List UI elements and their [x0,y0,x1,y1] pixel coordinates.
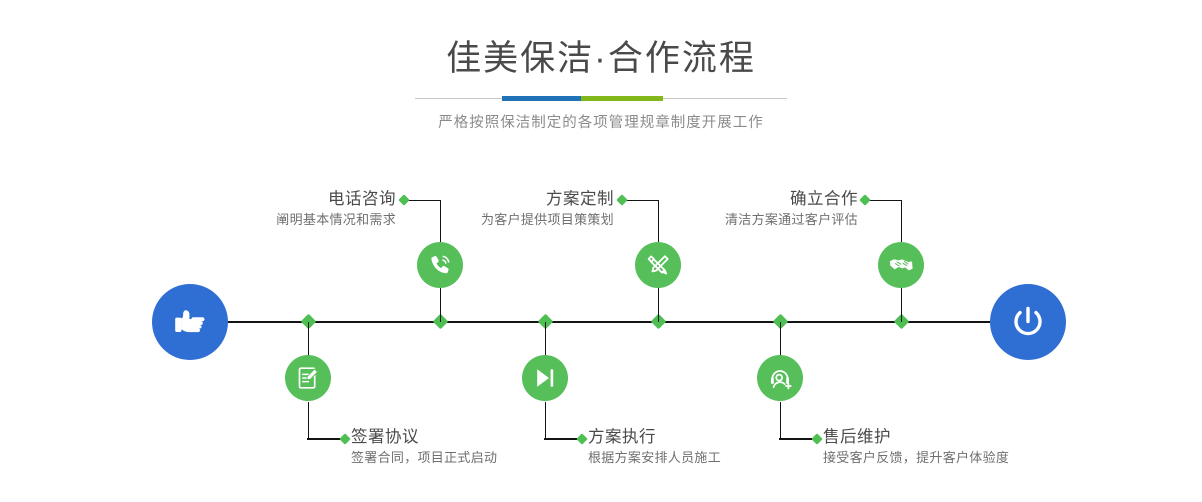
header: 佳美保洁·合作流程 严格按照保洁制定的各项管理规章制度开展工作 [0,0,1202,133]
label-marker [339,433,350,444]
step-icon-bubble-1 [417,242,463,288]
step-desc: 根据方案安排人员施工 [588,448,808,468]
flow-start-node [152,284,228,360]
connector-stem [308,322,310,356]
connector-stem [308,402,310,439]
label-marker [616,194,627,205]
pointing-hand-icon [168,300,212,344]
document-edit-icon [295,365,321,391]
step-label-4: 方案执行 根据方案安排人员施工 [588,426,808,468]
step-icon-bubble-6 [757,355,803,401]
step-desc: 签署合同，项目正式启动 [351,448,581,468]
step-label-1: 电话咨询 阐明基本情况和需求 [228,188,396,230]
label-marker [398,194,409,205]
handshake-icon [887,251,915,279]
play-next-icon [532,365,558,391]
flow-end-node [990,284,1066,360]
step-title: 售后维护 [823,426,1083,448]
customer-service-add-icon [767,365,794,392]
step-icon-bubble-3 [635,242,681,288]
connector-stem [658,200,660,242]
step-desc: 为客户提供项目策策划 [446,210,614,230]
connector-stem [545,402,547,439]
step-desc: 阐明基本情况和需求 [228,210,396,230]
power-button-icon [1007,301,1049,343]
phone-call-icon [426,251,454,279]
step-icon-bubble-4 [522,355,568,401]
step-label-2: 签署协议 签署合同，项目正式启动 [351,426,581,468]
step-icon-bubble-2 [285,355,331,401]
step-desc: 清洁方案通过客户评估 [690,210,858,230]
page-title: 佳美保洁·合作流程 [0,0,1202,82]
connector-stem [780,402,782,439]
cooperation-process-flowchart: 佳美保洁·合作流程 严格按照保洁制定的各项管理规章制度开展工作 [0,0,1202,502]
connector-stem [545,322,547,356]
connector-stem [658,288,660,322]
divider-segment-blue [502,96,581,101]
connector-stem [440,200,442,242]
label-marker [811,433,822,444]
pen-design-icon [644,251,672,279]
connector-stem [440,288,442,322]
step-title: 确立合作 [690,188,858,210]
connector-stem [901,288,903,322]
divider-segment-green [581,96,663,101]
connector-stem [780,322,782,356]
label-marker [859,194,870,205]
title-divider [415,96,787,101]
connector-stem [901,200,903,242]
step-label-3: 方案定制 为客户提供项目策策划 [446,188,614,230]
step-title: 电话咨询 [228,188,396,210]
step-title: 方案定制 [446,188,614,210]
step-title: 签署协议 [351,426,581,448]
step-label-5: 确立合作 清洁方案通过客户评估 [690,188,858,230]
step-label-6: 售后维护 接受客户反馈，提升客户体验度 [823,426,1083,468]
step-desc: 接受客户反馈，提升客户体验度 [823,448,1083,468]
step-icon-bubble-5 [878,242,924,288]
step-title: 方案执行 [588,426,808,448]
page-subtitle: 严格按照保洁制定的各项管理规章制度开展工作 [0,101,1202,133]
